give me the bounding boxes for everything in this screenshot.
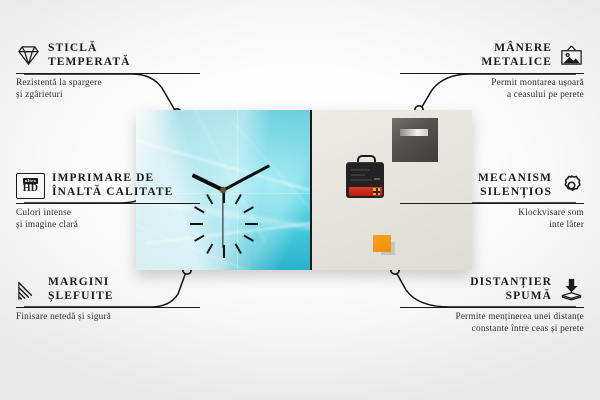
down-arrow-pad-icon [559,277,584,302]
callout-header: MÂNERE METALICE [400,42,584,69]
callout-distantier-spuma: DISTANȚIER SPUMĂ Permite menținerea unei… [400,276,584,335]
clock-center-cap [220,187,226,193]
battery-plus-marker [373,188,380,195]
callout-title: MECANISM SILENȚIOS [400,172,552,199]
ultra-hd-text: HD [23,184,39,194]
callout-subtitle: Rezistentă la spargere [16,78,200,90]
hanger-slot [400,129,428,136]
diamond-icon [16,43,41,68]
callout-mecanism-silentios: MECANISM SILENȚIOS Klockvisare som inte … [400,172,584,231]
hatched-edge-icon [16,277,41,302]
callout-subtitle: Permit montarea ușoară [400,78,584,90]
callout-subtitle: inte låter [400,220,584,232]
callout-subtitle: și imagine clară [16,220,200,232]
gear-icon [559,173,584,198]
callout-title: MÂNERE METALICE [400,42,552,69]
callout-divider [16,203,200,204]
callout-divider [400,307,584,308]
movement-body [346,162,384,198]
clock-minute-hand [222,164,269,191]
callout-subtitle: Permite menținerea unei distanțe [400,312,584,324]
callout-subtitle: Klockvisare som [400,208,584,220]
callout-header: MECANISM SILENȚIOS [400,172,584,199]
movement-detail [351,179,372,181]
callout-divider [16,307,200,308]
movement-detail [374,178,380,180]
ultra-hd-icon: ultra HD [16,173,45,199]
callout-header: ultra HD IMPRIMARE DE ÎNALTĂ CALITATE [16,172,200,199]
movement-detail [351,169,370,171]
callout-manere-metalice: MÂNERE METALICE Permit montarea ușoară a… [400,42,584,101]
infographic-canvas: STICLĂ TEMPERATĂ Rezistentă la spargere … [0,0,600,400]
callout-header: STICLĂ TEMPERATĂ [16,42,200,69]
callout-imprimare-hd: ultra HD IMPRIMARE DE ÎNALTĂ CALITATE Cu… [16,172,200,231]
callout-subtitle: Finisare netedă și sigură [16,312,200,324]
callout-margini-slefuite: MARGINI ȘLEFUITE Finisare netedă și sigu… [16,276,200,324]
movement-detail [351,174,365,176]
callout-header: DISTANȚIER SPUMĂ [400,276,584,303]
foam-spacer [373,235,391,252]
callout-title: IMPRIMARE DE ÎNALTĂ CALITATE [52,172,173,199]
callout-divider [400,73,584,74]
callout-subtitle: a ceasului pe perete [400,90,584,102]
callout-subtitle: și zgârieturi [16,90,200,102]
callout-title: DISTANȚIER SPUMĂ [400,276,552,303]
battery [349,187,382,196]
callout-divider [400,203,584,204]
callout-title: MARGINI ȘLEFUITE [48,276,114,303]
callout-divider [16,73,200,74]
callout-subtitle: constante între ceas și perete [400,324,584,336]
callout-subtitle: Culori intense [16,208,200,220]
callout-sticla-temperata: STICLĂ TEMPERATĂ Rezistentă la spargere … [16,42,200,101]
quartz-movement [346,160,384,198]
picture-frame-icon [559,43,584,68]
callout-header: MARGINI ȘLEFUITE [16,276,200,303]
callout-title: STICLĂ TEMPERATĂ [48,42,131,69]
hanger-plate [392,118,438,162]
